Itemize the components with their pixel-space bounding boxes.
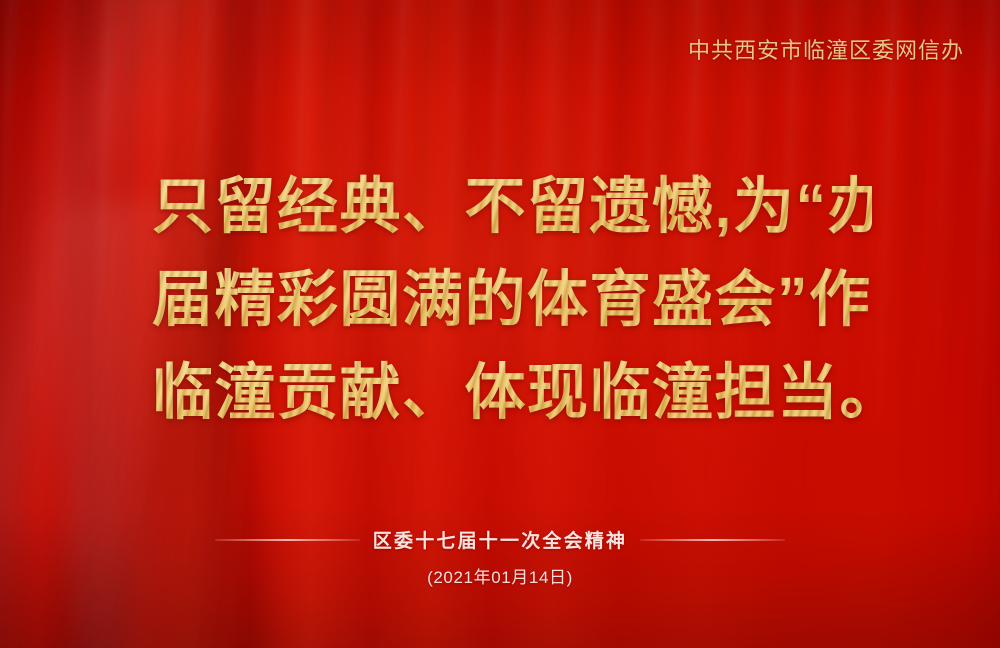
footer-block: 区委十七届十一次全会精神 (2021年01月14日) — [0, 526, 1000, 588]
footer-title: 区委十七届十一次全会精神 — [373, 526, 627, 553]
divider-left — [215, 539, 360, 541]
footer-date: (2021年01月14日) — [0, 563, 1000, 588]
footer-title-row: 区委十七届十一次全会精神 — [0, 526, 1000, 553]
poster-canvas: 中共西安市临潼区委网信办 只留经典、不留遗憾,为“办一 届精彩圆满的体育盛会”作… — [0, 0, 1000, 648]
headline-line-1: 只留经典、不留遗憾,为“办一 — [152, 160, 872, 253]
organization-label: 中共西安市临潼区委网信办 — [688, 33, 964, 65]
content-layer: 中共西安市临潼区委网信办 只留经典、不留遗憾,为“办一 届精彩圆满的体育盛会”作… — [0, 0, 1000, 648]
divider-right — [640, 539, 785, 541]
headline-line-2: 届精彩圆满的体育盛会”作出 — [152, 253, 872, 346]
headline-line-3: 临潼贡献、体现临潼担当。 — [152, 346, 872, 439]
headline-block: 只留经典、不留遗憾,为“办一 届精彩圆满的体育盛会”作出 临潼贡献、体现临潼担当… — [152, 160, 872, 439]
